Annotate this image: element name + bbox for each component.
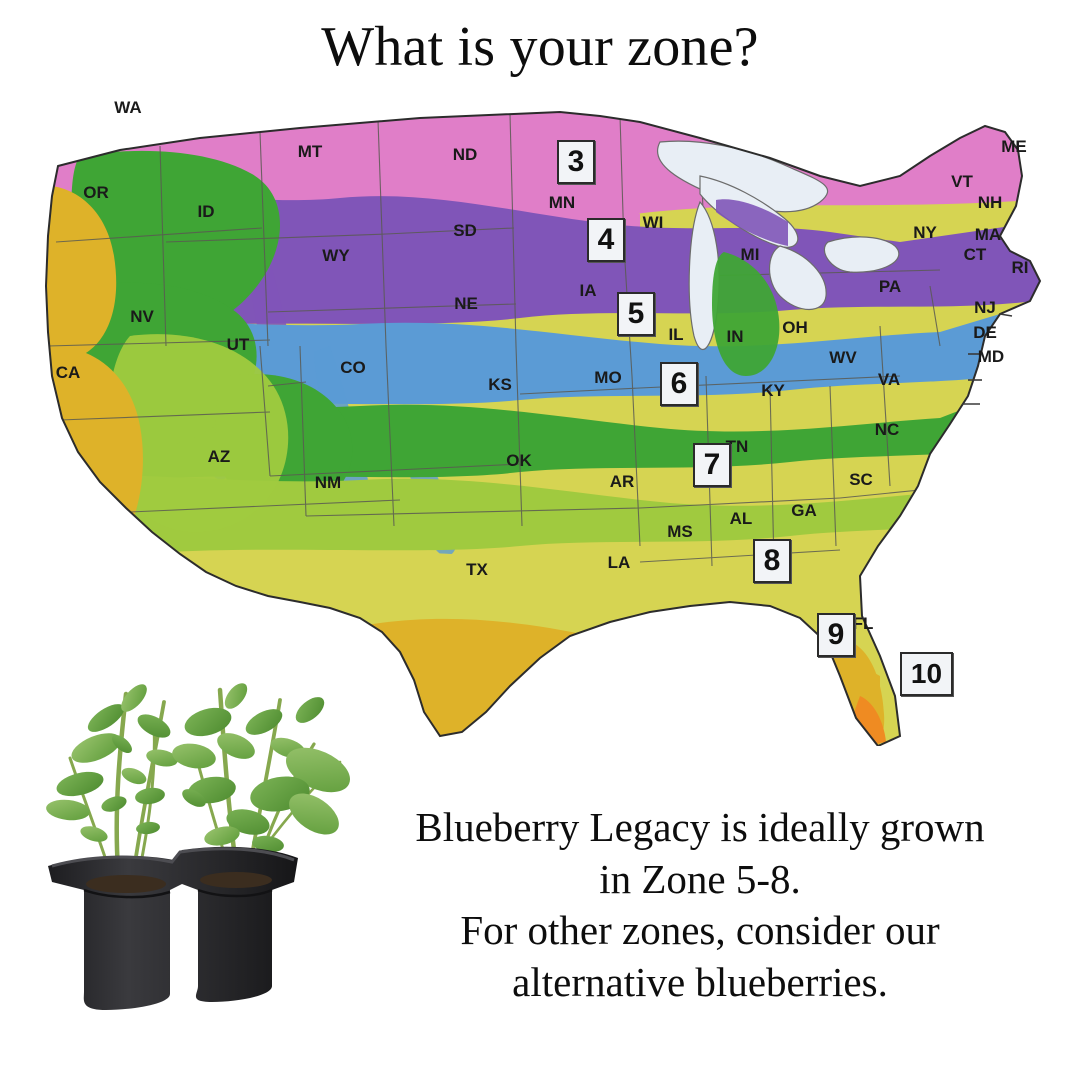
zone-marker-5[interactable]: 5 [617, 292, 655, 336]
state-label-ma: MA [975, 225, 1001, 244]
blueberry-plant-photo [22, 598, 382, 1038]
state-label-or: OR [83, 183, 109, 202]
state-label-mi: MI [741, 245, 760, 264]
description-line-2: in Zone 5-8. [330, 854, 1070, 906]
description-line-4: alternative blueberries. [330, 957, 1070, 1009]
state-label-fl: FL [853, 614, 874, 633]
state-label-in: IN [727, 327, 744, 346]
zone-marker-3[interactable]: 3 [557, 140, 595, 184]
state-label-la: LA [608, 553, 631, 572]
state-label-nv: NV [130, 307, 154, 326]
state-label-md: MD [978, 347, 1004, 366]
state-label-nc: NC [875, 420, 900, 439]
state-label-va: VA [878, 370, 900, 389]
state-label-ga: GA [791, 501, 817, 520]
state-label-vt: VT [951, 172, 973, 191]
state-label-mn: MN [549, 193, 575, 212]
state-label-nd: ND [453, 145, 478, 164]
nursery-pots [48, 847, 298, 1010]
state-label-az: AZ [208, 447, 231, 466]
zone-marker-9[interactable]: 9 [817, 613, 855, 657]
zone-map-infographic: What is your zone? [0, 0, 1080, 1080]
zone-marker-4[interactable]: 4 [587, 218, 625, 262]
state-label-sc: SC [849, 470, 873, 489]
state-label-co: CO [340, 358, 366, 377]
state-label-wi: WI [643, 213, 664, 232]
plant-leaves-right [170, 679, 357, 854]
state-label-nm: NM [315, 473, 341, 492]
state-label-mt: MT [298, 142, 323, 161]
state-label-me: ME [1001, 137, 1027, 156]
state-label-ri: RI [1012, 258, 1029, 277]
state-label-wa: WA [114, 98, 141, 117]
zone-marker-8[interactable]: 8 [753, 539, 791, 583]
state-label-ks: KS [488, 375, 512, 394]
state-label-pa: PA [879, 277, 901, 296]
state-label-ky: KY [761, 381, 785, 400]
state-label-wy: WY [322, 246, 350, 265]
state-label-il: IL [668, 325, 683, 344]
description-text: Blueberry Legacy is ideally grown in Zon… [330, 802, 1070, 1009]
state-label-ne: NE [454, 294, 478, 313]
state-label-oh: OH [782, 318, 808, 337]
plant-leaves-left [45, 680, 179, 845]
state-label-al: AL [730, 509, 753, 528]
page-title: What is your zone? [0, 18, 1080, 77]
state-label-nj: NJ [974, 298, 996, 317]
state-label-mo: MO [594, 368, 621, 387]
state-label-sd: SD [453, 221, 477, 240]
description-line-1: Blueberry Legacy is ideally grown [330, 802, 1070, 854]
state-label-ny: NY [913, 223, 937, 242]
state-label-id: ID [198, 202, 215, 221]
state-label-ut: UT [227, 335, 250, 354]
state-label-ct: CT [964, 245, 987, 264]
state-label-wv: WV [829, 348, 857, 367]
zone-marker-6[interactable]: 6 [660, 362, 698, 406]
state-label-ia: IA [580, 281, 597, 300]
state-label-ms: MS [667, 522, 693, 541]
state-label-ca: CA [56, 363, 81, 382]
state-label-tx: TX [466, 560, 488, 579]
state-label-de: DE [973, 323, 997, 342]
zone-marker-7[interactable]: 7 [693, 443, 731, 487]
plant-svg [22, 598, 382, 1038]
state-label-ar: AR [610, 472, 635, 491]
zone-marker-10[interactable]: 10 [900, 652, 953, 696]
state-label-ok: OK [506, 451, 532, 470]
description-line-3: For other zones, consider our [330, 905, 1070, 957]
state-label-nh: NH [978, 193, 1003, 212]
